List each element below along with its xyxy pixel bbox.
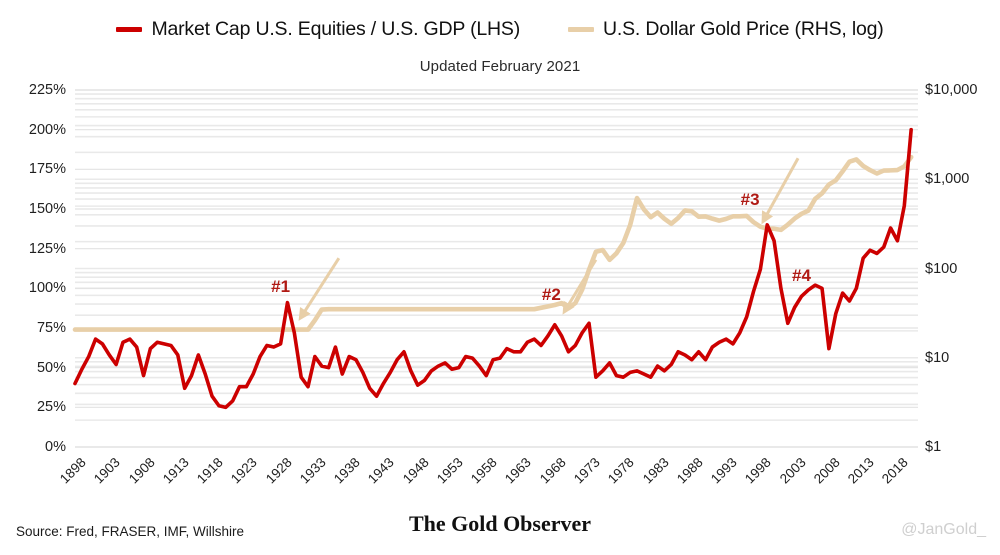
y-tick-left: 50% — [2, 360, 66, 376]
y-tick-left: 150% — [2, 201, 66, 217]
annotation-label-4: #4 — [792, 266, 811, 286]
legend-item-equities: Market Cap U.S. Equities / U.S. GDP (LHS… — [116, 18, 520, 41]
annotation-arrow-3 — [764, 158, 798, 220]
x-tick: 1978 — [598, 455, 637, 494]
legend-swatch-equities — [116, 27, 142, 32]
chart-canvas: Market Cap U.S. Equities / U.S. GDP (LHS… — [0, 0, 1000, 555]
y-tick-left: 225% — [2, 82, 66, 98]
x-tick: 2013 — [838, 455, 877, 494]
chart-legend: Market Cap U.S. Equities / U.S. GDP (LHS… — [0, 10, 1000, 48]
x-tick: 1958 — [461, 455, 500, 494]
plot-area: #1#2#3#4 — [75, 90, 918, 447]
x-tick: 1983 — [632, 455, 671, 494]
y-tick-right: $1,000 — [925, 171, 1000, 187]
y-tick-left: 200% — [2, 122, 66, 138]
chart-subtitle: Updated February 2021 — [0, 58, 1000, 75]
x-tick: 1968 — [530, 455, 569, 494]
x-tick: 2003 — [770, 455, 809, 494]
x-tick: 1913 — [153, 455, 192, 494]
annotation-label-1: #1 — [271, 277, 290, 297]
x-tick: 2018 — [872, 455, 911, 494]
y-tick-left: 25% — [2, 399, 66, 415]
x-tick: 1963 — [495, 455, 534, 494]
x-tick: 1918 — [187, 455, 226, 494]
legend-swatch-gold — [568, 27, 594, 32]
y-tick-right: $10 — [925, 350, 1000, 366]
y-tick-right: $1 — [925, 439, 1000, 455]
x-tick: 1943 — [358, 455, 397, 494]
legend-item-gold: U.S. Dollar Gold Price (RHS, log) — [568, 18, 884, 41]
x-tick: 1953 — [427, 455, 466, 494]
y-tick-right: $100 — [925, 261, 1000, 277]
x-tick: 1998 — [735, 455, 774, 494]
x-axis: 1898190319081913191819231928193319381943… — [75, 449, 918, 509]
x-tick: 1993 — [701, 455, 740, 494]
x-tick: 2008 — [804, 455, 843, 494]
x-tick: 1898 — [50, 455, 89, 494]
annotation-label-2: #2 — [542, 285, 561, 305]
x-tick: 1903 — [84, 455, 123, 494]
annotation-label-3: #3 — [741, 190, 760, 210]
x-tick: 1908 — [118, 455, 157, 494]
legend-label-equities: Market Cap U.S. Equities / U.S. GDP (LHS… — [151, 18, 520, 41]
watermark-handle: @JanGold_ — [901, 521, 986, 539]
y-tick-right: $10,000 — [925, 82, 1000, 98]
brand-title: The Gold Observer — [0, 511, 1000, 537]
x-tick: 1973 — [564, 455, 603, 494]
y-axis-left: 0%25%50%75%100%125%150%175%200%225% — [0, 90, 66, 447]
x-tick: 1933 — [290, 455, 329, 494]
x-tick: 1928 — [255, 455, 294, 494]
x-tick: 1923 — [221, 455, 260, 494]
y-tick-left: 75% — [2, 320, 66, 336]
annotation-arrow-2 — [565, 260, 596, 311]
y-tick-left: 0% — [2, 439, 66, 455]
legend-label-gold: U.S. Dollar Gold Price (RHS, log) — [603, 18, 884, 41]
x-tick: 1948 — [393, 455, 432, 494]
y-tick-left: 100% — [2, 280, 66, 296]
x-tick: 1988 — [667, 455, 706, 494]
x-tick: 1938 — [324, 455, 363, 494]
y-tick-left: 175% — [2, 161, 66, 177]
y-tick-left: 125% — [2, 241, 66, 257]
y-axis-right: $1$10$100$1,000$10,000 — [925, 90, 1000, 447]
